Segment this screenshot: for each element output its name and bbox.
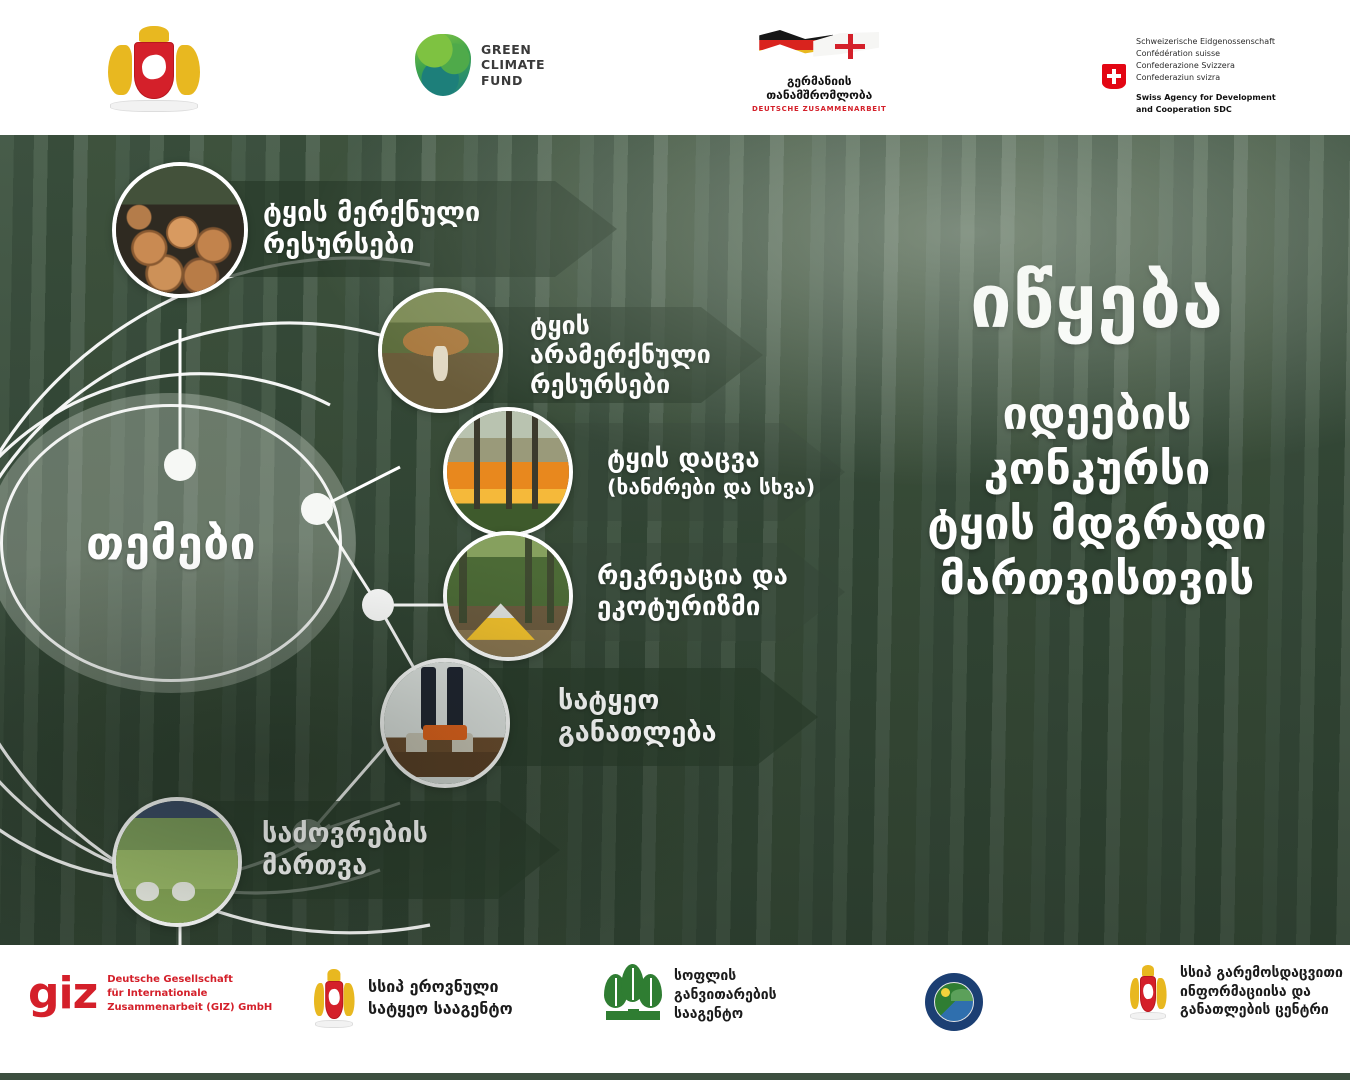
topic-label-line1: ტყის დაცვა bbox=[607, 444, 760, 474]
swiss-agency-line-1: Swiss Agency for Development bbox=[1136, 92, 1276, 104]
bottom-accent-strip bbox=[0, 1073, 1350, 1080]
topic-label-line2: განათლება bbox=[558, 717, 717, 748]
camping-tent-photo bbox=[447, 535, 569, 657]
campaign-subtitle: იდეების კონკურსი ტყის მდგრადი მართვისთვი… bbox=[872, 387, 1322, 607]
eiec-label: სსიპ გარემოსდაცვითი ინფორმაციისა და განა… bbox=[1180, 964, 1343, 1021]
german-coop-title: გერმანიის თანამშრომლობა bbox=[766, 74, 872, 102]
nfa-line-1: სსიპ ეროვნული bbox=[368, 976, 513, 998]
partner-logo-bar-bottom: giz Deutsche Gesellschaft für Internatio… bbox=[0, 945, 1350, 1073]
swiss-flag-icon bbox=[1102, 64, 1126, 89]
campaign-main-title: იწყება bbox=[872, 265, 1322, 339]
logo-giz: giz Deutsche Gesellschaft für Internatio… bbox=[28, 973, 272, 1016]
giz-desc-line-3: Zusammenarbeit (GIZ) GmbH bbox=[107, 1001, 272, 1015]
gcf-globe-icon bbox=[415, 34, 471, 96]
poster-main-canvas: თემები ტყის მერქნული რესურსები ტყის არამ… bbox=[0, 135, 1350, 945]
nfa-line-2: სატყეო სააგენტო bbox=[368, 998, 513, 1020]
topic-banner-forestry-education[interactable]: სატყეო განათლება bbox=[470, 668, 818, 766]
gcf-wordmark: GREEN CLIMATE FUND bbox=[481, 42, 545, 88]
tree-house-icon bbox=[604, 970, 662, 1020]
logo-green-climate-fund: GREEN CLIMATE FUND bbox=[415, 34, 545, 96]
topic-thumb-stacked-logs-photo bbox=[112, 162, 248, 298]
topic-banner-non-timber-resources[interactable]: ტყის არამერქნული რესურსები bbox=[465, 307, 763, 403]
campaign-subtitle-line-4: მართვისთვის bbox=[872, 552, 1322, 607]
campaign-title-block: იწყება იდეების კონკურსი ტყის მდგრადი მარ… bbox=[872, 265, 1322, 607]
topic-thumb-forest-fire-photo bbox=[443, 407, 573, 537]
topic-banner-pasture-management[interactable]: საძოვრების მართვა bbox=[200, 801, 560, 899]
giz-desc-line-2: für Internationale bbox=[107, 987, 272, 1001]
logo-rural-development-agency: სოფლის განვითარების სააგენტო bbox=[604, 967, 777, 1024]
swiss-sdc-text: Schweizerische Eidgenossenschaft Confédé… bbox=[1136, 36, 1276, 116]
chainsaw-logging-photo bbox=[384, 662, 506, 784]
georgian-coat-of-arms-icon bbox=[104, 22, 204, 114]
rural-development-agency-label: სოფლის განვითარების სააგენტო bbox=[674, 967, 777, 1024]
campaign-subtitle-line-1: იდეების bbox=[872, 387, 1322, 442]
topic-label-line1: ტყის არამერქნული bbox=[530, 311, 711, 370]
topic-label-forestry-education: სატყეო განათლება bbox=[558, 685, 717, 749]
logo-national-forestry-agency: სსიპ ეროვნული სატყეო სააგენტო bbox=[312, 967, 513, 1029]
topic-label-line1: საძოვრების bbox=[262, 818, 428, 849]
hub-label: თემები bbox=[0, 393, 356, 693]
topic-banner-recreation-ecotourism[interactable]: რეკრეაცია და ეკოტურიზმი bbox=[545, 543, 845, 641]
swiss-agency-line-2: and Cooperation SDC bbox=[1136, 104, 1276, 116]
rda-line-2: განვითარების bbox=[674, 986, 777, 1005]
campaign-subtitle-line-3: ტყის მდგრადი bbox=[872, 497, 1322, 552]
giz-desc-line-1: Deutsche Gesellschaft bbox=[107, 973, 272, 987]
logo-environmental-info-education-center: სსიპ გარემოსდაცვითი ინფორმაციისა და განა… bbox=[1128, 963, 1343, 1021]
topic-label-recreation-ecotourism: რეკრეაცია და ეკოტურიზმი bbox=[597, 561, 788, 622]
georgian-coat-of-arms-icon bbox=[1128, 963, 1168, 1021]
topic-label-line2: რესურსები bbox=[530, 370, 670, 399]
topic-label-forest-protection: ტყის დაცვა (ხანძრები და სხვა) bbox=[607, 444, 815, 499]
georgian-coat-of-arms-icon bbox=[312, 967, 356, 1029]
gcf-line-1: GREEN bbox=[481, 42, 545, 57]
german-coop-title-line1: გერმანიის bbox=[766, 74, 872, 88]
topic-label-line2: მართვა bbox=[262, 850, 367, 881]
giz-wordmark: giz bbox=[28, 975, 97, 1013]
eiec-line-3: განათლების ცენტრი bbox=[1180, 1001, 1343, 1020]
logo-german-cooperation: გერმანიის თანამშრომლობა DEUTSCHE ZUSAMME… bbox=[752, 28, 887, 113]
logo-georgian-coat-of-arms bbox=[104, 22, 204, 114]
gcf-line-2: CLIMATE bbox=[481, 57, 545, 72]
eiec-line-2: ინფორმაციისა და bbox=[1180, 983, 1343, 1002]
sheep-pasture-photo bbox=[116, 801, 238, 923]
topic-thumb-sheep-pasture-photo bbox=[112, 797, 242, 927]
topic-thumb-camping-tent-photo bbox=[443, 531, 573, 661]
eiec-line-1: სსიპ გარემოსდაცვითი bbox=[1180, 964, 1343, 983]
topic-label-timber-resources: ტყის მერქნული რესურსები bbox=[263, 197, 480, 261]
swiss-line-3: Confederazione Svizzera bbox=[1136, 60, 1276, 72]
central-hub: თემები bbox=[0, 393, 356, 693]
logo-swiss-sdc: Schweizerische Eidgenossenschaft Confédé… bbox=[1102, 36, 1276, 116]
topic-thumb-chainsaw-logging-photo bbox=[380, 658, 510, 788]
german-coop-subtitle: DEUTSCHE ZUSAMMENARBEIT bbox=[752, 105, 887, 113]
topic-label-line1: რეკრეაცია და bbox=[597, 561, 788, 591]
giz-description: Deutsche Gesellschaft für Internationale… bbox=[107, 973, 272, 1016]
topic-label-line2: რესურსები bbox=[263, 229, 415, 260]
mushroom-picking-photo bbox=[382, 292, 499, 409]
environment-ministry-seal-icon bbox=[925, 973, 983, 1031]
swiss-line-2: Confédération suisse bbox=[1136, 48, 1276, 60]
campaign-subtitle-line-2: კონკურსი bbox=[872, 442, 1322, 497]
logo-environment-seal bbox=[925, 973, 983, 1031]
topic-label-pasture-management: საძოვრების მართვა bbox=[262, 818, 428, 882]
stacked-logs-photo bbox=[116, 166, 244, 294]
topic-thumb-mushroom-picking-photo bbox=[378, 288, 503, 413]
german-georgian-flag-ribbon-icon bbox=[759, 28, 879, 74]
topic-label-line2: ეკოტურიზმი bbox=[597, 592, 760, 622]
topic-label-line1: ტყის მერქნული bbox=[263, 197, 480, 228]
swiss-line-1: Schweizerische Eidgenossenschaft bbox=[1136, 36, 1276, 48]
topic-note-forest-protection: (ხანძრები და სხვა) bbox=[607, 475, 815, 500]
swiss-line-4: Confederaziun svizra bbox=[1136, 72, 1276, 84]
partner-logo-bar-top: GREEN CLIMATE FUND გერმანიის თანამშრომლო… bbox=[0, 0, 1350, 135]
forest-fire-photo bbox=[447, 411, 569, 533]
topic-banner-timber-resources[interactable]: ტყის მერქნული რესურსები bbox=[205, 181, 617, 277]
topic-label-line1: სატყეო bbox=[558, 685, 659, 716]
topic-banner-forest-protection[interactable]: ტყის დაცვა (ხანძრები და სხვა) bbox=[545, 423, 845, 521]
german-coop-title-line2: თანამშრომლობა bbox=[766, 88, 872, 102]
gcf-line-3: FUND bbox=[481, 73, 545, 88]
rda-line-1: სოფლის bbox=[674, 967, 777, 986]
node-dot-3 bbox=[362, 589, 394, 621]
rda-line-3: სააგენტო bbox=[674, 1005, 777, 1024]
national-forestry-agency-label: სსიპ ეროვნული სატყეო სააგენტო bbox=[368, 976, 513, 1019]
